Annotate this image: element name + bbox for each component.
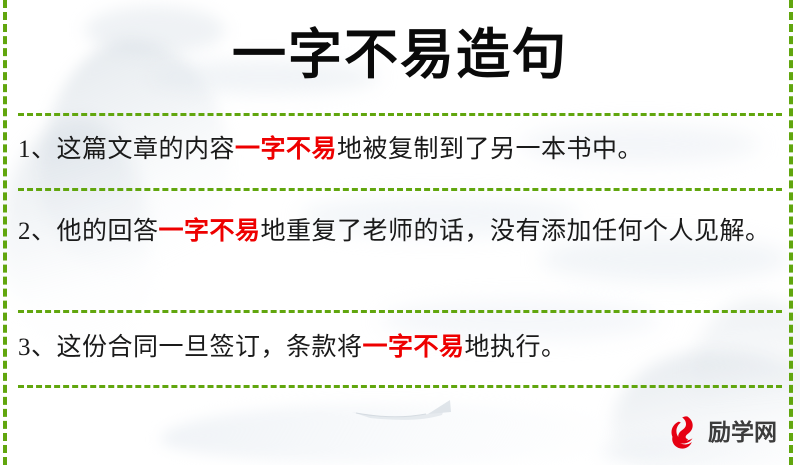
sentence-index-3: 3、: [18, 334, 57, 361]
page-title: 一字不易造句: [0, 24, 800, 86]
sentence-text-before-3: 这份合同一旦签订，条款将: [57, 334, 363, 361]
sentence-index-1: 1、: [18, 136, 57, 163]
page-root: 一字不易造句 1、这篇文章的内容一字不易地被复制到了另一本书中。 2、他的回答一…: [0, 0, 800, 465]
site-logo-text: 励学网: [708, 419, 777, 445]
sentence-text-after-3: 地执行。: [465, 334, 567, 361]
divider-3: [18, 310, 782, 313]
frame-left-dashed-border: [3, 0, 7, 465]
sentence-text-after-2: 地重复了老师的话，没有添加任何个人见解。: [261, 218, 771, 245]
sentence-text-after-1: 地被复制到了另一本书中。: [337, 136, 643, 163]
sentence-highlight-3: 一字不易: [363, 334, 465, 361]
content-area: 一字不易造句 1、这篇文章的内容一字不易地被复制到了另一本书中。 2、他的回答一…: [0, 0, 800, 465]
frame-right-dashed-border: [789, 0, 793, 465]
sentence-item-2: 2、他的回答一字不易地重复了老师的话，没有添加任何个人见解。: [18, 212, 780, 252]
flame-swirl-icon: [665, 414, 701, 450]
divider-2: [18, 188, 782, 191]
sentence-text-before-1: 这篇文章的内容: [57, 136, 236, 163]
sentence-index-2: 2、: [18, 218, 57, 245]
sentence-highlight-1: 一字不易: [235, 136, 337, 163]
sentence-highlight-2: 一字不易: [159, 218, 261, 245]
site-logo[interactable]: 励学网: [665, 414, 777, 450]
divider-1: [18, 113, 782, 116]
sentence-text-before-2: 他的回答: [57, 218, 159, 245]
sentence-item-1: 1、这篇文章的内容一字不易地被复制到了另一本书中。: [18, 130, 780, 170]
divider-4: [18, 385, 782, 388]
sentence-item-3: 3、这份合同一旦签订，条款将一字不易地执行。: [18, 328, 780, 368]
